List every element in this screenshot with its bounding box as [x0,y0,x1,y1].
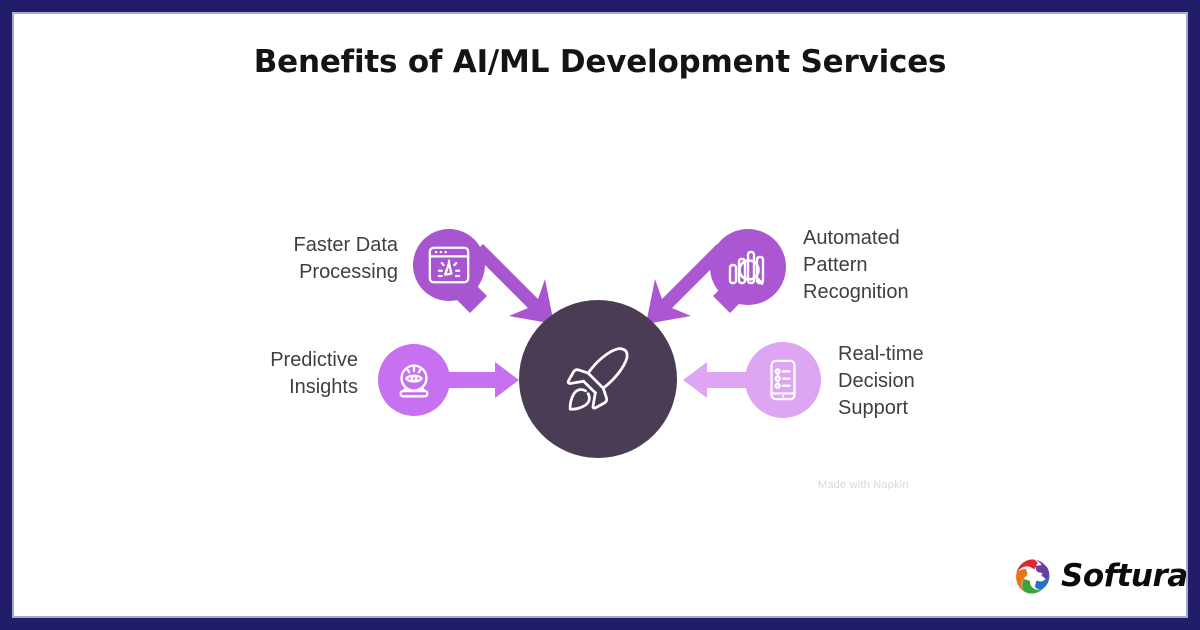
softura-wordmark: Softura [1061,558,1188,594]
node-label-faster-data-processing: Faster Data Processing [193,232,398,286]
bar-chart-magnifier-icon [724,243,772,291]
softura-aperture-icon [1014,557,1052,595]
napkin-watermark: Made with Napkin [818,479,978,493]
node-label-real-time-decision-support: Real-time Decision Support [838,341,1068,422]
crystal-ball-eye-icon [391,357,437,403]
hub-and-spoke-diagram: Faster Data Processing Predictive Insigh… [0,0,1200,630]
rocket-icon [556,337,640,421]
hub-circle [519,300,677,458]
node-icon-real-time-decision-support[interactable] [745,342,821,418]
node-label-predictive-insights: Predictive Insights [153,347,358,401]
node-icon-predictive-insights[interactable] [378,344,450,416]
browser-speedometer-icon [426,242,472,288]
node-label-automated-pattern-recognition: Automated Pattern Recognition [803,225,1033,306]
infographic-canvas: Benefits of AI/ML Development Services [0,0,1200,630]
node-icon-automated-pattern-recognition[interactable] [710,229,786,305]
node-icon-faster-data-processing[interactable] [413,229,485,301]
mobile-checklist-icon [760,357,806,403]
softura-logo[interactable]: Softura [1014,557,1188,595]
